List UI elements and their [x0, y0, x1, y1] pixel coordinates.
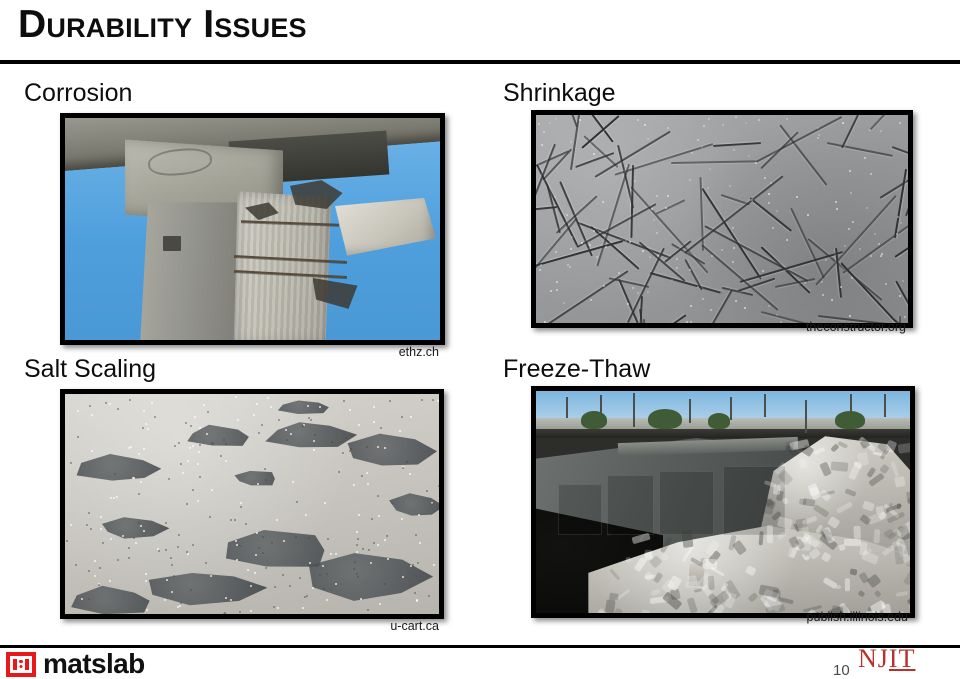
surface-speck [225, 443, 227, 445]
aggregate-speck [697, 286, 699, 288]
aggregate-speck [852, 221, 854, 223]
surface-speck [205, 562, 207, 564]
aggregate-speck [720, 292, 722, 294]
aggregate-speck [870, 255, 872, 257]
utility-pole [689, 399, 691, 424]
rubble-chunk [897, 442, 910, 454]
surface-speck [302, 425, 304, 427]
aggregate-speck [625, 240, 627, 242]
aggregate-speck [541, 144, 543, 146]
surface-speck [373, 421, 375, 423]
surface-speck [135, 542, 137, 544]
surface-speck [299, 577, 301, 579]
shrinkage-crack [790, 208, 825, 279]
surface-speck [426, 490, 428, 492]
shrinkage-crack [869, 115, 908, 131]
surface-speck [331, 441, 333, 443]
surface-speck [239, 545, 241, 547]
surface-speck [357, 576, 359, 578]
aggregate-speck [697, 139, 699, 141]
aggregate-speck [637, 119, 639, 121]
aggregate-speck [881, 253, 883, 255]
surface-speck [273, 606, 275, 608]
surface-speck [414, 592, 416, 594]
aggregate-speck [555, 251, 557, 253]
surface-speck [179, 605, 181, 607]
surface-speck [438, 485, 439, 487]
aggregate-speck [579, 119, 581, 121]
surface-speck [307, 405, 309, 407]
surface-speck [302, 607, 304, 609]
aggregate-speck [590, 299, 592, 301]
wall-panel [723, 466, 785, 535]
surface-speck [165, 549, 167, 551]
surface-speck [322, 565, 324, 567]
surface-speck [194, 416, 196, 418]
aggregate-speck [722, 124, 724, 126]
photo-freeze-thaw [531, 386, 915, 618]
surface-speck [274, 586, 276, 588]
surface-speck [182, 472, 184, 474]
surface-speck [105, 402, 107, 404]
photo-shrinkage [531, 110, 913, 328]
rubble-chunk [799, 498, 807, 504]
surface-speck [189, 447, 191, 449]
surface-speck [358, 514, 360, 516]
aggregate-speck [538, 123, 540, 125]
concrete-block-shape [335, 198, 436, 256]
aggregate-speck [549, 122, 551, 124]
aggregate-speck [554, 196, 556, 198]
aggregate-speck [776, 314, 778, 316]
page-title: Durability Issues [18, 2, 307, 48]
surface-speck [409, 473, 411, 475]
surface-speck [373, 406, 375, 408]
surface-speck [185, 422, 187, 424]
surface-speck [432, 399, 434, 401]
aggregate-speck [665, 207, 667, 209]
surface-speck [203, 404, 205, 406]
aggregate-speck [644, 124, 646, 126]
aggregate-speck [878, 243, 880, 245]
surface-speck [290, 433, 292, 435]
shrinkage-crack [740, 251, 843, 283]
scaled-aggregate-patch [259, 416, 356, 453]
shrinkage-crack [596, 164, 630, 267]
surface-speck [368, 549, 370, 551]
matslab-logo: matslab [6, 650, 145, 678]
surface-speck [70, 524, 72, 526]
surface-speck [171, 564, 173, 566]
aggregate-speck [818, 134, 820, 136]
surface-speck [253, 414, 255, 416]
logo-dot [20, 660, 23, 663]
aggregate-speck [864, 157, 866, 159]
shrinkage-crack [827, 142, 893, 157]
image-credit-salt-scaling: u-cart.ca [274, 619, 439, 633]
surface-speck [278, 419, 280, 421]
tree [581, 411, 607, 429]
surface-speck [379, 603, 381, 605]
spall-void [290, 180, 343, 209]
aggregate-speck [768, 193, 770, 195]
surface-speck [133, 537, 135, 539]
surface-speck [437, 400, 439, 402]
aggregate-speck [745, 122, 747, 124]
rubble-chunk [854, 526, 861, 539]
surface-speck [138, 493, 140, 495]
shrinkage-crack [576, 115, 614, 143]
surface-speck [356, 531, 358, 533]
aggregate-speck [686, 321, 688, 323]
surface-speck [180, 602, 182, 604]
aggregate-speck [764, 177, 766, 179]
aggregate-speck [796, 196, 798, 198]
surface-speck [386, 535, 388, 537]
surface-speck [264, 468, 266, 470]
aggregate-speck [702, 298, 704, 300]
aggregate-speck [733, 247, 735, 249]
photo-corrosion [60, 113, 445, 345]
aggregate-speck [656, 195, 658, 197]
aggregate-speck [825, 259, 827, 261]
surface-speck [401, 518, 403, 520]
spalled-column-shape [234, 191, 332, 340]
aggregate-speck [732, 261, 734, 263]
surface-speck [173, 575, 175, 577]
surface-speck [358, 424, 360, 426]
shrinkage-crack [671, 160, 756, 164]
aggregate-speck [900, 222, 902, 224]
surface-speck [151, 402, 153, 404]
rubble-chunk [707, 576, 714, 590]
shrinkage-crack [755, 116, 842, 163]
surface-speck [310, 419, 312, 421]
shrinkage-crack [685, 290, 732, 323]
surface-speck [313, 449, 315, 451]
surface-speck [255, 554, 257, 556]
aggregate-speck [729, 185, 731, 187]
aggregate-speck [755, 162, 757, 164]
aggregate-speck [835, 201, 837, 203]
aggregate-speck [896, 233, 898, 235]
surface-speck [170, 557, 172, 559]
matslab-wordmark: matslab [43, 650, 145, 678]
surface-speck [100, 528, 102, 530]
surface-speck [289, 585, 291, 587]
aggregate-speck [632, 287, 634, 289]
surface-speck [140, 481, 142, 483]
aggregate-speck [556, 289, 558, 291]
surface-speck [192, 544, 194, 546]
aggregate-speck [770, 182, 772, 184]
surface-speck [145, 580, 147, 582]
surface-speck [110, 497, 112, 499]
aggregate-speck [772, 227, 774, 229]
aggregate-speck [539, 269, 541, 271]
surface-speck [154, 416, 156, 418]
surface-speck [235, 396, 237, 398]
surface-speck [433, 564, 435, 566]
aggregate-speck [593, 153, 595, 155]
shrinkage-crack [780, 124, 828, 185]
surface-speck [330, 553, 332, 555]
surface-speck [428, 595, 430, 597]
surface-speck [362, 548, 364, 550]
surface-speck [224, 612, 226, 614]
aggregate-speck [556, 281, 558, 283]
shrinkage-crack [643, 319, 650, 323]
surface-speck [373, 542, 375, 544]
aggregate-speck [776, 210, 778, 212]
pier-recess [163, 236, 182, 252]
aggregate-speck [707, 187, 709, 189]
surface-speck [116, 496, 118, 498]
image-credit-corrosion: ethz.ch [274, 345, 439, 359]
aggregate-speck [550, 290, 552, 292]
njit-letters-it: IT [889, 644, 916, 673]
shrinkage-crack [841, 115, 871, 149]
aggregate-speck [836, 208, 838, 210]
shrinkage-crack [815, 195, 896, 285]
utility-pole [764, 394, 766, 417]
aggregate-speck [647, 138, 649, 140]
surface-speck [399, 430, 401, 432]
surface-speck [256, 403, 258, 405]
shrinkage-crack [581, 115, 619, 148]
rubble-chunk [644, 550, 653, 559]
surface-speck [421, 399, 423, 401]
surface-speck [237, 419, 239, 421]
surface-speck [415, 534, 417, 536]
surface-speck [262, 536, 264, 538]
shrinkage-crack [604, 314, 687, 323]
aggregate-speck [735, 116, 737, 118]
aggregate-speck [605, 246, 607, 248]
surface-speck [70, 462, 72, 464]
aggregate-speck [733, 149, 735, 151]
surface-speck [186, 551, 188, 553]
logo-dot [20, 665, 23, 668]
surface-speck [306, 595, 308, 597]
utility-pole [633, 393, 635, 427]
aggregate-speck [555, 118, 557, 120]
scaled-aggregate-patch [230, 469, 282, 489]
aggregate-speck [859, 248, 861, 250]
aggregate-speck [711, 255, 713, 257]
surface-speck [267, 397, 269, 399]
surface-speck [353, 484, 355, 486]
shrinkage-crack [570, 115, 583, 170]
surface-speck [350, 448, 352, 450]
surface-speck [88, 570, 90, 572]
aggregate-speck [899, 295, 901, 297]
surface-speck [276, 519, 278, 521]
aggregate-speck [768, 305, 770, 307]
surface-speck [296, 501, 298, 503]
utility-pole [730, 397, 732, 420]
scaled-aggregate-patch [342, 429, 439, 473]
rubble-chunk [844, 579, 849, 592]
surface-speck [406, 461, 408, 463]
aggregate-speck [904, 316, 906, 318]
aggregate-speck [735, 300, 737, 302]
surface-speck [164, 599, 166, 601]
surface-speck [295, 536, 297, 538]
aggregate-speck [642, 250, 644, 252]
aggregate-speck [844, 245, 846, 247]
aggregate-speck [874, 233, 876, 235]
surface-speck [114, 473, 116, 475]
surface-speck [128, 547, 130, 549]
surface-speck [145, 423, 147, 425]
surface-speck [353, 568, 355, 570]
surface-speck [143, 410, 145, 412]
surface-speck [371, 518, 373, 520]
scaled-aggregate-patch [72, 451, 169, 486]
surface-speck [401, 416, 403, 418]
aggregate-speck [822, 294, 824, 296]
utility-pole [884, 394, 886, 417]
aggregate-speck [676, 267, 678, 269]
surface-speck [360, 598, 362, 600]
surface-speck [239, 611, 241, 613]
surface-speck [110, 538, 112, 540]
surface-speck [197, 463, 199, 465]
surface-speck [186, 503, 188, 505]
scaled-aggregate-patch [274, 398, 334, 416]
surface-speck [240, 506, 242, 508]
title-divider [0, 60, 960, 64]
photo-shrinkage-artwork [536, 115, 908, 323]
surface-speck [129, 399, 131, 401]
surface-speck [165, 522, 167, 524]
surface-speck [192, 445, 194, 447]
surface-speck [338, 471, 340, 473]
aggregate-speck [691, 152, 693, 154]
surface-speck [77, 410, 79, 412]
surface-speck [90, 528, 92, 530]
aggregate-speck [842, 122, 844, 124]
aggregate-speck [703, 125, 705, 127]
utility-pole [805, 400, 807, 434]
surface-speck [265, 567, 267, 569]
aggregate-speck [656, 232, 658, 234]
surface-speck [324, 502, 326, 504]
surface-speck [99, 567, 101, 569]
aggregate-speck [667, 127, 669, 129]
aggregate-speck [709, 168, 711, 170]
surface-speck [211, 489, 213, 491]
shrinkage-crack [905, 115, 908, 217]
surface-speck [199, 444, 201, 446]
surface-speck [91, 450, 93, 452]
surface-speck [207, 411, 209, 413]
surface-speck [171, 591, 173, 593]
njit-logo: NJIT [858, 646, 915, 672]
surface-speck [402, 467, 404, 469]
surface-speck [234, 519, 236, 521]
surface-speck [378, 515, 380, 517]
surface-speck [416, 600, 418, 602]
aggregate-speck [848, 228, 850, 230]
surface-speck [357, 538, 359, 540]
surface-speck [384, 539, 386, 541]
shrinkage-crack [760, 131, 798, 169]
aggregate-speck [653, 219, 655, 221]
surface-speck [417, 562, 419, 564]
aggregate-speck [649, 256, 651, 258]
page-number: 10 [833, 662, 850, 679]
surface-speck [356, 544, 358, 546]
surface-speck [257, 483, 259, 485]
quadrant-label-shrinkage: Shrinkage [503, 80, 616, 108]
surface-speck [130, 446, 132, 448]
surface-speck [367, 609, 369, 611]
photo-salt-scaling-artwork [65, 394, 439, 614]
logo-bar-right [25, 659, 29, 670]
surface-speck [254, 572, 256, 574]
aggregate-speck [870, 173, 872, 175]
shrinkage-crack [536, 270, 629, 323]
surface-speck [258, 432, 260, 434]
surface-speck [230, 519, 232, 521]
aggregate-speck [762, 270, 764, 272]
surface-speck [419, 542, 421, 544]
surface-speck [354, 561, 356, 563]
surface-speck [282, 574, 284, 576]
surface-speck [98, 584, 100, 586]
surface-speck [177, 546, 179, 548]
surface-speck [235, 540, 237, 542]
surface-speck [192, 489, 194, 491]
surface-speck [86, 524, 88, 526]
surface-speck [335, 553, 337, 555]
shrinkage-crack [749, 197, 791, 231]
surface-speck [117, 408, 119, 410]
wall-panel [659, 471, 713, 535]
scaled-aggregate-patch [387, 491, 439, 522]
tree [648, 409, 682, 429]
rubble-chunk [681, 530, 693, 548]
image-credit-freeze-thaw: publish.illinois.edu [693, 610, 908, 624]
shrinkage-crack [614, 143, 713, 176]
aggregate-speck [821, 281, 823, 283]
aggregate-speck [786, 239, 788, 241]
surface-speck [187, 460, 189, 462]
rubble-chunk [785, 441, 793, 450]
surface-speck [180, 463, 182, 465]
surface-speck [247, 569, 249, 571]
aggregate-speck [758, 119, 760, 121]
surface-speck [77, 436, 79, 438]
shrinkage-crack [895, 281, 908, 323]
aggregate-speck [851, 277, 853, 279]
surface-speck [366, 446, 368, 448]
aggregate-speck [866, 207, 868, 209]
image-credit-shrinkage: theconstructor.org [693, 320, 906, 334]
surface-speck [199, 476, 201, 478]
aggregate-speck [651, 208, 653, 210]
shrinkage-crack [713, 142, 761, 147]
aggregate-speck [817, 137, 819, 139]
surface-speck [178, 442, 180, 444]
surface-speck [410, 416, 412, 418]
aggregate-speck [566, 214, 568, 216]
shrinkage-crack [630, 164, 634, 237]
aggregate-speck [880, 255, 882, 257]
surface-speck [198, 451, 200, 453]
